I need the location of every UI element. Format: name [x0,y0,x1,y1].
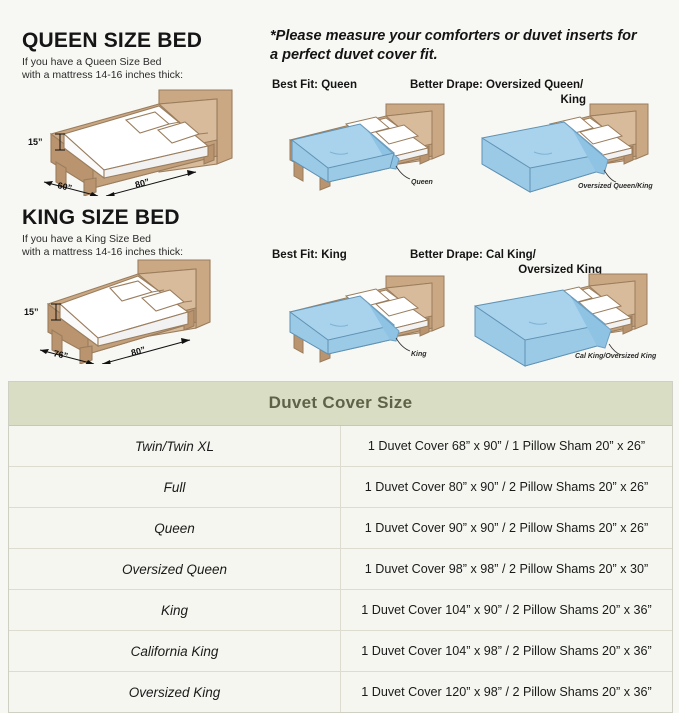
row-size-label: Full [9,467,341,508]
table-row: Oversized Queen 1 Duvet Cover 98” x 98” … [9,549,672,590]
queen-duvet-label: Queen [411,179,433,186]
table-row: California King 1 Duvet Cover 104” x 98”… [9,631,672,672]
table-row: Full 1 Duvet Cover 80” x 90” / 2 Pillow … [9,467,672,508]
queen-section-subtitle: If you have a Queen Size Bed with a matt… [22,56,202,82]
row-size-spec: 1 Duvet Cover 98” x 98” / 2 Pillow Shams… [341,549,673,590]
measure-note-line1: *Please measure your comforters or duvet… [270,27,670,46]
queen-subtitle-line1: If you have a Queen Size Bed [22,56,202,69]
measure-note-line2: a perfect duvet cover fit. [270,46,670,65]
king-section-heading: KING SIZE BED If you have a King Size Be… [22,206,183,259]
row-size-spec: 1 Duvet Cover 120” x 98” / 2 Pillow Sham… [341,672,673,713]
row-size-label: Twin/Twin XL [9,426,341,467]
queen-width-value: 60” [57,180,73,193]
queen-height-value: 15” [28,137,43,147]
row-size-label: California King [9,631,341,672]
table-row: Twin/Twin XL 1 Duvet Cover 68” x 90” / 1… [9,426,672,467]
queen-better-drape-bed-diagram: Oversized Queen/King [468,96,673,196]
row-size-label: King [9,590,341,631]
row-size-spec: 1 Duvet Cover 104” x 98” / 2 Pillow Sham… [341,631,673,672]
table-row: Queen 1 Duvet Cover 90” x 90” / 2 Pillow… [9,508,672,549]
king-oversized-duvet-label: Cal King/Oversized King [575,353,657,360]
table-row: Oversized King 1 Duvet Cover 120” x 98” … [9,672,672,713]
duvet-cover-size-table: Duvet Cover Size Twin/Twin XL 1 Duvet Co… [8,381,673,713]
king-section-title: KING SIZE BED [22,206,183,230]
queen-better-drape-caption-line1: Better Drape: Oversized Queen/ [410,78,672,93]
queen-oversized-duvet-label: Oversized Queen/King [578,183,653,190]
king-better-drape-bed-diagram: Cal King/Oversized King [465,266,677,368]
row-size-label: Oversized King [9,672,341,713]
queen-best-fit-bed-diagram: Queen [268,96,468,196]
king-bed-measured-diagram: 15” 76” 80” [18,256,253,364]
king-length-value: 80” [130,345,147,358]
queen-best-fit-caption: Best Fit: Queen [272,78,357,93]
row-size-spec: 1 Duvet Cover 80” x 90” / 2 Pillow Shams… [341,467,673,508]
row-size-label: Oversized Queen [9,549,341,590]
table-row: King 1 Duvet Cover 104” x 90” / 2 Pillow… [9,590,672,631]
table-body: Twin/Twin XL 1 Duvet Cover 68” x 90” / 1… [9,426,672,713]
king-height-value: 15” [24,307,39,317]
king-best-fit-bed-diagram: King [268,268,468,366]
table-header-title: Duvet Cover Size [9,382,672,426]
queen-section-title: QUEEN SIZE BED [22,29,202,53]
king-best-fit-caption: Best Fit: King [272,248,347,263]
duvet-size-guide-page: *Please measure your comforters or duvet… [0,0,679,679]
king-width-value: 76” [53,348,69,361]
king-subtitle-line1: If you have a King Size Bed [22,233,183,246]
row-size-spec: 1 Duvet Cover 104” x 90” / 2 Pillow Sham… [341,590,673,631]
row-size-spec: 1 Duvet Cover 90” x 90” / 2 Pillow Shams… [341,508,673,549]
queen-section-heading: QUEEN SIZE BED If you have a Queen Size … [22,29,202,82]
king-duvet-label: King [411,351,427,358]
king-better-drape-caption-line1: Better Drape: Cal King/ [410,248,672,263]
measure-note: *Please measure your comforters or duvet… [270,27,670,65]
queen-length-value: 80” [134,177,151,190]
row-size-spec: 1 Duvet Cover 68” x 90” / 1 Pillow Sham … [341,426,673,467]
queen-subtitle-line2: with a mattress 14-16 inches thick: [22,69,202,82]
row-size-label: Queen [9,508,341,549]
queen-bed-measured-diagram: 15” 60” 80” [18,84,248,196]
